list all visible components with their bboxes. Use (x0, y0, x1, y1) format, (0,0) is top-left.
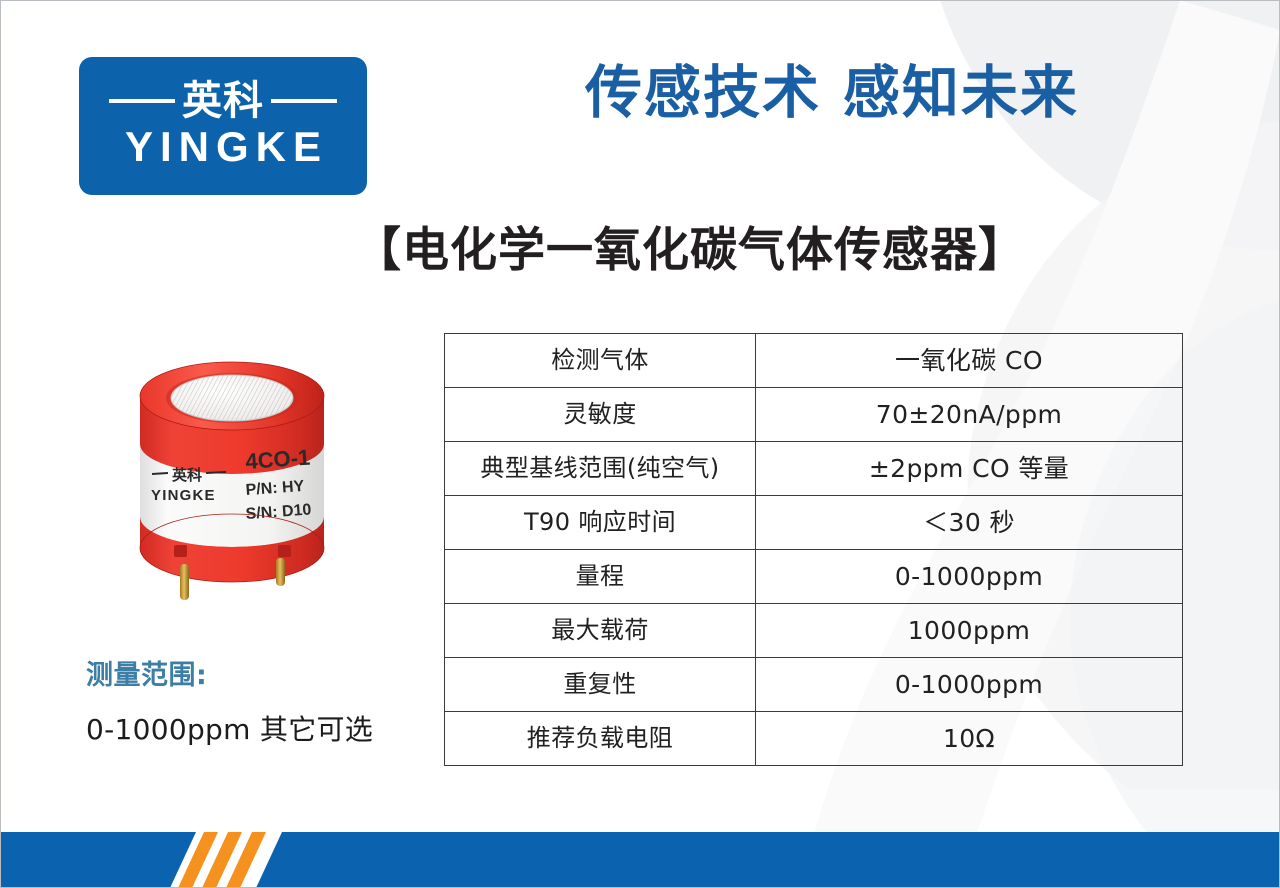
product-title: 【电化学一氧化碳气体传感器】 (0, 222, 1280, 281)
spec-param: T90 响应时间 (445, 496, 756, 550)
logo-wordmark-cn-row: 英科 (79, 81, 367, 121)
measurement-range-label: 测量范围: (86, 658, 426, 694)
measurement-range-caption: 测量范围: 0-1000ppm 其它可选 (86, 658, 426, 749)
spec-value: 70±20nA/ppm (756, 388, 1183, 442)
spec-param: 量程 (445, 550, 756, 604)
svg-text:YINGKE: YINGKE (151, 487, 216, 504)
svg-text:4CO-1: 4CO-1 (245, 445, 311, 474)
table-row: 灵敏度 70±20nA/ppm (445, 388, 1183, 442)
logo-rule-right (271, 99, 337, 103)
spec-value: 0-1000ppm (756, 658, 1183, 712)
brand-slogan: 传感技术 感知未来 (585, 61, 1145, 127)
logo-rule-left (109, 99, 175, 103)
logo-wordmark-cn: 英科 (182, 81, 264, 121)
spec-value: 0-1000ppm (756, 550, 1183, 604)
spec-param: 最大载荷 (445, 604, 756, 658)
spec-value: 一氧化碳 CO (756, 334, 1183, 388)
table-row: 量程 0-1000ppm (445, 550, 1183, 604)
table-row: 典型基线范围(纯空气) ±2ppm CO 等量 (445, 442, 1183, 496)
spec-param: 灵敏度 (445, 388, 756, 442)
table-row: T90 响应时间 ＜30 秒 (445, 496, 1183, 550)
table-row: 推荐负载电阻 10Ω (445, 712, 1183, 766)
spec-value: ＜30 秒 (756, 496, 1183, 550)
poster-canvas: 英科 YINGKE 传感技术 感知未来 【电化学一氧化碳气体传感器】 (0, 0, 1280, 888)
measurement-range-value: 0-1000ppm 其它可选 (86, 712, 426, 748)
spec-param: 检测气体 (445, 334, 756, 388)
spec-param: 推荐负载电阻 (445, 712, 756, 766)
spec-value: 10Ω (756, 712, 1183, 766)
spec-value: ±2ppm CO 等量 (756, 442, 1183, 496)
header: 英科 YINGKE 传感技术 感知未来 (0, 0, 1280, 210)
spec-param: 典型基线范围(纯空气) (445, 442, 756, 496)
spec-param: 重复性 (445, 658, 756, 712)
footer-stripe-accent (170, 832, 282, 888)
sensor-product-image: 英科 YINGKE 4CO-1 P/N: HY S/N: D10 (118, 352, 346, 610)
table-row: 最大载荷 1000ppm (445, 604, 1183, 658)
spec-value: 1000ppm (756, 604, 1183, 658)
svg-text:英科: 英科 (172, 466, 202, 484)
specification-table: 检测气体 一氧化碳 CO 灵敏度 70±20nA/ppm 典型基线范围(纯空气)… (444, 333, 1183, 766)
logo-wordmark-en: YINGKE (118, 123, 328, 171)
table-row: 重复性 0-1000ppm (445, 658, 1183, 712)
brand-logo: 英科 YINGKE (79, 57, 367, 195)
table-row: 检测气体 一氧化碳 CO (445, 334, 1183, 388)
specification-table-body: 检测气体 一氧化碳 CO 灵敏度 70±20nA/ppm 典型基线范围(纯空气)… (445, 334, 1183, 766)
footer-bar (0, 832, 1280, 888)
